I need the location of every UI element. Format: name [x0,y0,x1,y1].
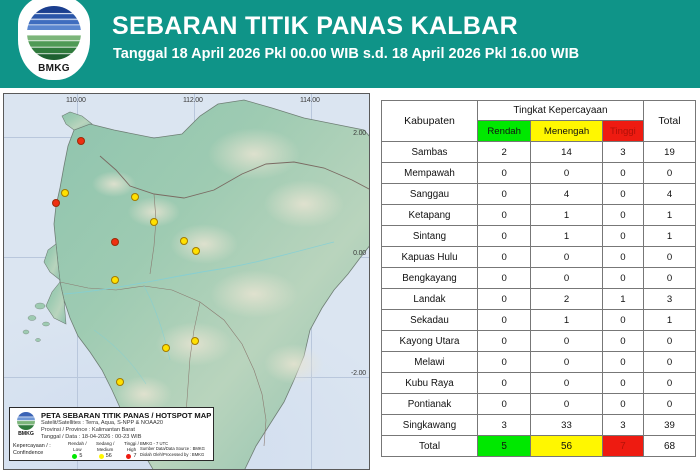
header-category-rendah: Rendah [478,121,531,142]
bmkg-emblem-icon [27,6,81,60]
cell-kabupaten: Ketapang [382,205,478,226]
cell-tinggi: 3 [602,142,643,163]
cell-rendah: 0 [478,226,531,247]
hotspot-marker-medium[interactable] [162,344,170,352]
cell-total: 0 [644,373,696,394]
cell-menengah: 14 [531,142,602,163]
cell-menengah: 1 [531,226,602,247]
hotspot-marker-medium[interactable] [116,378,124,386]
cell-kabupaten: Mempawah [382,163,478,184]
hotspot-marker-medium[interactable] [150,218,158,226]
table-row: Kapuas Hulu0000 [382,247,696,268]
cell-kabupaten: Kubu Raya [382,373,478,394]
cell-tinggi: 3 [602,415,643,436]
cell-total: 4 [644,184,696,205]
legend-source-note: BMKG - 7 UTC Sumber Data/Data Source : B… [140,441,205,457]
cell-rendah: 0 [478,310,531,331]
cell-rendah: 0 [478,289,531,310]
cell-kabupaten: Kapuas Hulu [382,247,478,268]
cell-rendah: 0 [478,373,531,394]
cell-rendah: 0 [478,331,531,352]
total-label: Total [382,436,478,457]
page-title: SEBARAN TITIK PANAS KALBAR [112,12,518,41]
legend-dot-medium [99,454,104,459]
hotspot-marker-medium[interactable] [180,237,188,245]
cell-kabupaten: Sambas [382,142,478,163]
legend-title: PETA SEBARAN TITIK PANAS / HOTSPOT MAP [41,411,211,420]
cell-menengah: 0 [531,394,602,415]
cell-kabupaten: Kayong Utara [382,331,478,352]
cell-menengah: 0 [531,268,602,289]
cell-menengah: 0 [531,247,602,268]
cell-tinggi: 0 [602,394,643,415]
header-category-menengah: Menengah [531,121,602,142]
table-row: Landak0213 [382,289,696,310]
cell-kabupaten: Singkawang [382,415,478,436]
cell-rendah: 0 [478,394,531,415]
cell-tinggi: 0 [602,226,643,247]
cell-kabupaten: Sekadau [382,310,478,331]
bmkg-land-band [27,33,81,60]
cell-kabupaten: Bengkayang [382,268,478,289]
cell-kabupaten: Pontianak [382,394,478,415]
map-lon-label-114: 114.00 [300,97,320,104]
cell-tinggi: 1 [602,289,643,310]
cell-total: 0 [644,352,696,373]
cell-tinggi: 0 [602,310,643,331]
table-total-row: Total556768 [382,436,696,457]
total-tinggi: 7 [602,436,643,457]
cell-kabupaten: Landak [382,289,478,310]
legend-class-high: Tinggi / High 7 [124,441,139,459]
legend-dot-low [72,454,77,459]
table-row: Sintang0101 [382,226,696,247]
legend-dot-high [126,454,131,459]
legend-province: Provinsi / Province : Kalimantan Barat [41,427,135,433]
map-lon-label-112: 112.00 [183,97,203,104]
cell-tinggi: 0 [602,247,643,268]
cell-total: 0 [644,163,696,184]
cell-tinggi: 0 [602,331,643,352]
legend-date: Tanggal / Data : 18-04-2026 : 00-23 WIB [41,434,141,440]
cell-menengah: 1 [531,205,602,226]
header-total: Total [644,101,696,142]
table-row: Bengkayang0000 [382,268,696,289]
cell-tinggi: 0 [602,205,643,226]
cell-total: 1 [644,226,696,247]
table-row: Singkawang333339 [382,415,696,436]
hotspot-marker-medium[interactable] [131,193,139,201]
header-category-tinggi: Tinggi [602,121,643,142]
cell-tinggi: 0 [602,268,643,289]
cell-menengah: 33 [531,415,602,436]
legend-bmkg-emblem-icon [17,412,35,430]
table-header-row-1: Kabupaten Tingkat Kepercayaan Total [382,101,696,121]
table-body: Sambas214319Mempawah0000Sanggau0404Ketap… [382,142,696,457]
cell-kabupaten: Sanggau [382,184,478,205]
hotspot-marker-medium[interactable] [61,189,69,197]
cell-menengah: 4 [531,184,602,205]
table-row: Sambas214319 [382,142,696,163]
cell-rendah: 0 [478,352,531,373]
total-menengah: 56 [531,436,602,457]
cell-menengah: 2 [531,289,602,310]
cell-total: 1 [644,205,696,226]
cell-tinggi: 0 [602,184,643,205]
table-row: Kayong Utara0000 [382,331,696,352]
page-header: BMKG SEBARAN TITIK PANAS KALBAR Tanggal … [0,0,700,88]
cell-kabupaten: Sintang [382,226,478,247]
total-grand: 68 [644,436,696,457]
page-subtitle: Tanggal 18 April 2026 Pkl 00.00 WIB s.d.… [113,46,579,62]
cell-menengah: 0 [531,352,602,373]
cell-total: 39 [644,415,696,436]
table-head: Kabupaten Tingkat Kepercayaan Total Rend… [382,101,696,142]
bmkg-sky-band [27,6,81,30]
total-rendah: 5 [478,436,531,457]
cell-rendah: 0 [478,205,531,226]
cell-total: 0 [644,247,696,268]
cell-rendah: 0 [478,247,531,268]
bmkg-logo: BMKG [18,0,90,80]
cell-rendah: 0 [478,268,531,289]
cell-menengah: 0 [531,331,602,352]
table-row: Mempawah0000 [382,163,696,184]
table-row: Kubu Raya0000 [382,373,696,394]
cell-tinggi: 0 [602,352,643,373]
hotspot-table-container: Kabupaten Tingkat Kepercayaan Total Rend… [381,100,696,457]
hotspot-marker-medium[interactable] [191,337,199,345]
table-row: Pontianak0000 [382,394,696,415]
map-lat-label-neg2: -2.00 [351,370,366,377]
hotspot-marker-high[interactable] [77,137,85,145]
map-lat-label-2: 2.00 [353,130,366,137]
header-kabupaten: Kabupaten [382,101,478,142]
legend-bmkg-text: BMKG [13,431,39,437]
hotspot-map[interactable]: 110.00 112.00 114.00 2.00 0.00 -2.00 BMK… [3,93,370,470]
map-legend: BMKG PETA SEBARAN TITIK PANAS / HOTSPOT … [9,407,214,461]
cell-kabupaten: Melawi [382,352,478,373]
cell-total: 0 [644,394,696,415]
map-lat-label-0: 0.00 [353,250,366,257]
map-lon-label-110: 110.00 [66,97,86,104]
hotspot-marker-medium[interactable] [111,276,119,284]
hotspot-table: Kabupaten Tingkat Kepercayaan Total Rend… [381,100,696,457]
cell-tinggi: 0 [602,163,643,184]
legend-bmkg-logo: BMKG [15,412,37,442]
cell-menengah: 1 [531,310,602,331]
cell-total: 0 [644,268,696,289]
cell-rendah: 0 [478,163,531,184]
cell-rendah: 2 [478,142,531,163]
cell-total: 0 [644,331,696,352]
legend-class-medium: Sedang / Medium 56 [96,441,114,459]
header-confidence-group: Tingkat Kepercayaan [478,101,644,121]
legend-class-low: Rendah / Low 5 [68,441,87,459]
table-row: Melawi0000 [382,352,696,373]
bmkg-logo-text: BMKG [18,63,90,74]
table-row: Sekadau0101 [382,310,696,331]
cell-menengah: 0 [531,373,602,394]
cell-rendah: 0 [478,184,531,205]
cell-total: 19 [644,142,696,163]
table-row: Sanggau0404 [382,184,696,205]
cell-menengah: 0 [531,163,602,184]
hotspot-marker-medium[interactable] [192,247,200,255]
table-row: Ketapang0101 [382,205,696,226]
hotspot-marker-high[interactable] [111,238,119,246]
legend-satellite: Satelit/Satellites : Terra, Aqua, S-NPP … [41,420,163,426]
cell-rendah: 3 [478,415,531,436]
cell-total: 3 [644,289,696,310]
cell-tinggi: 0 [602,373,643,394]
hotspot-marker-high[interactable] [52,199,60,207]
legend-confidence-label: Kepercayaan / : Confindence [13,443,51,457]
cell-total: 1 [644,310,696,331]
